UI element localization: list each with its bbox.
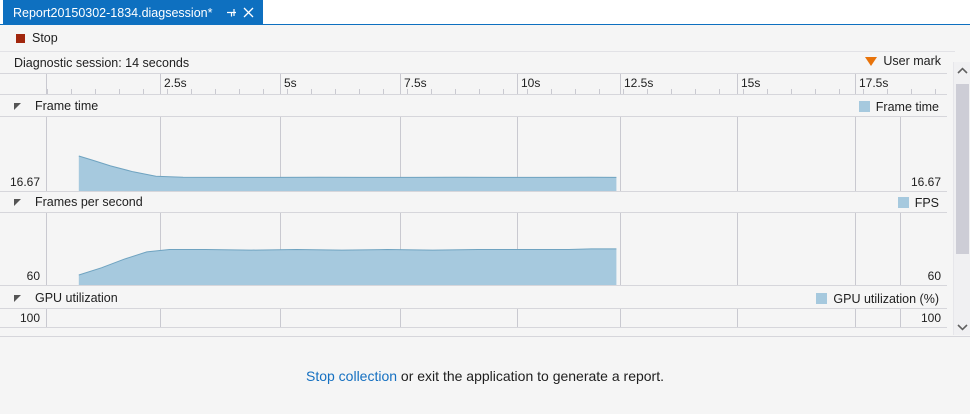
gridline (280, 309, 281, 327)
graph-row: Frame timeFrame time16.6716.67 (0, 96, 947, 192)
ruler-minor-tick (191, 89, 192, 94)
graph-row: GPU utilizationGPU utilization (%)100100 (0, 288, 947, 328)
ruler-minor-tick (215, 89, 216, 94)
ruler-minor-tick (383, 89, 384, 94)
ruler-minor-tick (335, 89, 336, 94)
axis-value-right: 60 (928, 269, 947, 285)
scrollbar-thumb[interactable] (956, 84, 969, 254)
ruler-left-gutter (0, 74, 47, 95)
ruler-minor-tick (167, 89, 168, 94)
ruler-tick-label: 7.5s (400, 76, 427, 90)
ruler-minor-tick (791, 89, 792, 94)
ruler-minor-tick (143, 89, 144, 94)
ruler-minor-tick (839, 89, 840, 94)
graph-title: Frames per second (35, 195, 143, 209)
ruler-minor-tick (599, 89, 600, 94)
graph-title: GPU utilization (35, 291, 118, 305)
ruler-minor-tick (767, 89, 768, 94)
graph-plot[interactable]: 16.6716.67 (0, 117, 947, 192)
series-line (79, 156, 617, 177)
ruler-minor-tick (551, 89, 552, 94)
gridline (620, 309, 621, 327)
axis-value-left: 16.67 (10, 175, 46, 191)
ruler-minor-tick (47, 89, 48, 94)
ruler-minor-tick (863, 89, 864, 94)
plot-area[interactable] (47, 213, 900, 285)
expander-triangle-icon[interactable] (14, 295, 21, 302)
ruler-minor-tick (623, 89, 624, 94)
ruler-minor-tick (455, 89, 456, 94)
ruler-tick-label: 2.5s (160, 76, 187, 90)
ruler-minor-tick (911, 89, 912, 94)
ruler-tick-label: 10s (517, 76, 540, 90)
gridline (855, 309, 856, 327)
document-tab-diagsession[interactable]: Report20150302-1834.diagsession* (3, 0, 263, 25)
diagnostic-tools-window: Report20150302-1834.diagsession* Stop Di… (0, 0, 970, 414)
ruler-minor-tick (119, 89, 120, 94)
stop-button-label: Stop (32, 31, 58, 45)
ruler-minor-tick (239, 89, 240, 94)
graph-title: Frame time (35, 99, 98, 113)
legend-swatch (816, 293, 827, 304)
axis-value-left: 100 (20, 311, 46, 327)
series-area (79, 156, 617, 191)
ruler-minor-tick (671, 89, 672, 94)
series-chart (47, 213, 900, 285)
ruler-minor-tick (719, 89, 720, 94)
pin-icon[interactable] (223, 4, 239, 22)
ruler-minor-tick (95, 89, 96, 94)
ruler-minor-tick (311, 89, 312, 94)
stop-button[interactable]: Stop (10, 27, 66, 49)
ruler-minor-tick (695, 89, 696, 94)
ruler-tick-label: 15s (737, 76, 760, 90)
graph-header: Frame timeFrame time (0, 96, 947, 117)
axis-gutter-left: 16.67 (0, 117, 47, 191)
ruler-minor-tick (887, 89, 888, 94)
ruler-minor-tick (407, 89, 408, 94)
footer-message: Stop collection or exit the application … (0, 336, 970, 414)
ruler-minor-tick (431, 89, 432, 94)
footer-rest-text: or exit the application to generate a re… (397, 368, 664, 384)
legend-swatch (898, 197, 909, 208)
axis-gutter-right: 60 (900, 213, 947, 285)
ruler-minor-tick (479, 89, 480, 94)
graph-header: Frames per secondFPS (0, 192, 947, 213)
graph-plot[interactable]: 100100 (0, 309, 947, 328)
tab-title: Report20150302-1834.diagsession* (13, 6, 212, 20)
ruler-tick-label: 17.5s (855, 76, 888, 90)
expander-triangle-icon[interactable] (14, 199, 21, 206)
footer-text: Stop collection or exit the application … (306, 368, 664, 384)
gridline (160, 309, 161, 327)
graph-row: Frames per secondFPS6060 (0, 192, 947, 286)
axis-gutter-left: 100 (0, 309, 47, 327)
ruler-minor-tick (359, 89, 360, 94)
expander-triangle-icon[interactable] (14, 103, 21, 110)
legend-label: FPS (915, 196, 939, 210)
gridline (517, 309, 518, 327)
graph-legend: FPS (898, 192, 939, 213)
ruler-minor-tick (287, 89, 288, 94)
stop-square-icon (16, 34, 25, 43)
chevron-up-icon[interactable] (954, 62, 970, 79)
axis-gutter-left: 60 (0, 213, 47, 285)
graph-legend: Frame time (859, 96, 939, 117)
ruler-tick-label: 5s (280, 76, 297, 90)
session-bar: Diagnostic session: 14 seconds User mark (0, 51, 955, 73)
close-icon[interactable] (240, 4, 256, 22)
legend-label: GPU utilization (%) (833, 292, 939, 306)
toolbar: Stop (0, 25, 970, 51)
vertical-scrollbar[interactable] (953, 62, 970, 335)
legend-swatch (859, 101, 870, 112)
timeline-ruler[interactable]: 2.5s5s7.5s10s12.5s15s17.5s (0, 73, 947, 95)
ruler-minor-tick (815, 89, 816, 94)
stop-collection-link[interactable]: Stop collection (306, 368, 397, 384)
series-area (79, 249, 617, 285)
ruler-tick-label: 12.5s (620, 76, 653, 90)
ruler-minor-tick (935, 89, 936, 94)
axis-gutter-right: 100 (900, 309, 947, 327)
tab-strip: Report20150302-1834.diagsession* (0, 0, 970, 25)
gridline (737, 309, 738, 327)
plot-area[interactable] (47, 117, 900, 191)
graph-header: GPU utilizationGPU utilization (%) (0, 288, 947, 309)
axis-value-left: 60 (27, 269, 46, 285)
series-chart (47, 117, 900, 191)
axis-value-right: 100 (921, 311, 947, 327)
ruler-minor-tick (647, 89, 648, 94)
chevron-down-icon[interactable] (954, 318, 970, 335)
user-mark-button[interactable]: User mark (865, 54, 941, 68)
graph-legend: GPU utilization (%) (816, 288, 939, 309)
ruler-minor-tick (71, 89, 72, 94)
ruler-minor-tick (503, 89, 504, 94)
graph-plot[interactable]: 6060 (0, 213, 947, 286)
ruler-minor-tick (527, 89, 528, 94)
legend-label: Frame time (876, 100, 939, 114)
user-mark-label: User mark (883, 54, 941, 68)
ruler-minor-tick (743, 89, 744, 94)
plot-area[interactable] (47, 309, 900, 327)
gridline (400, 309, 401, 327)
axis-gutter-right: 16.67 (900, 117, 947, 191)
triangle-down-icon (865, 57, 877, 66)
session-duration-label: Diagnostic session: 14 seconds (14, 56, 189, 70)
axis-value-right: 16.67 (911, 175, 947, 191)
ruler-minor-tick (575, 89, 576, 94)
ruler-minor-tick (263, 89, 264, 94)
